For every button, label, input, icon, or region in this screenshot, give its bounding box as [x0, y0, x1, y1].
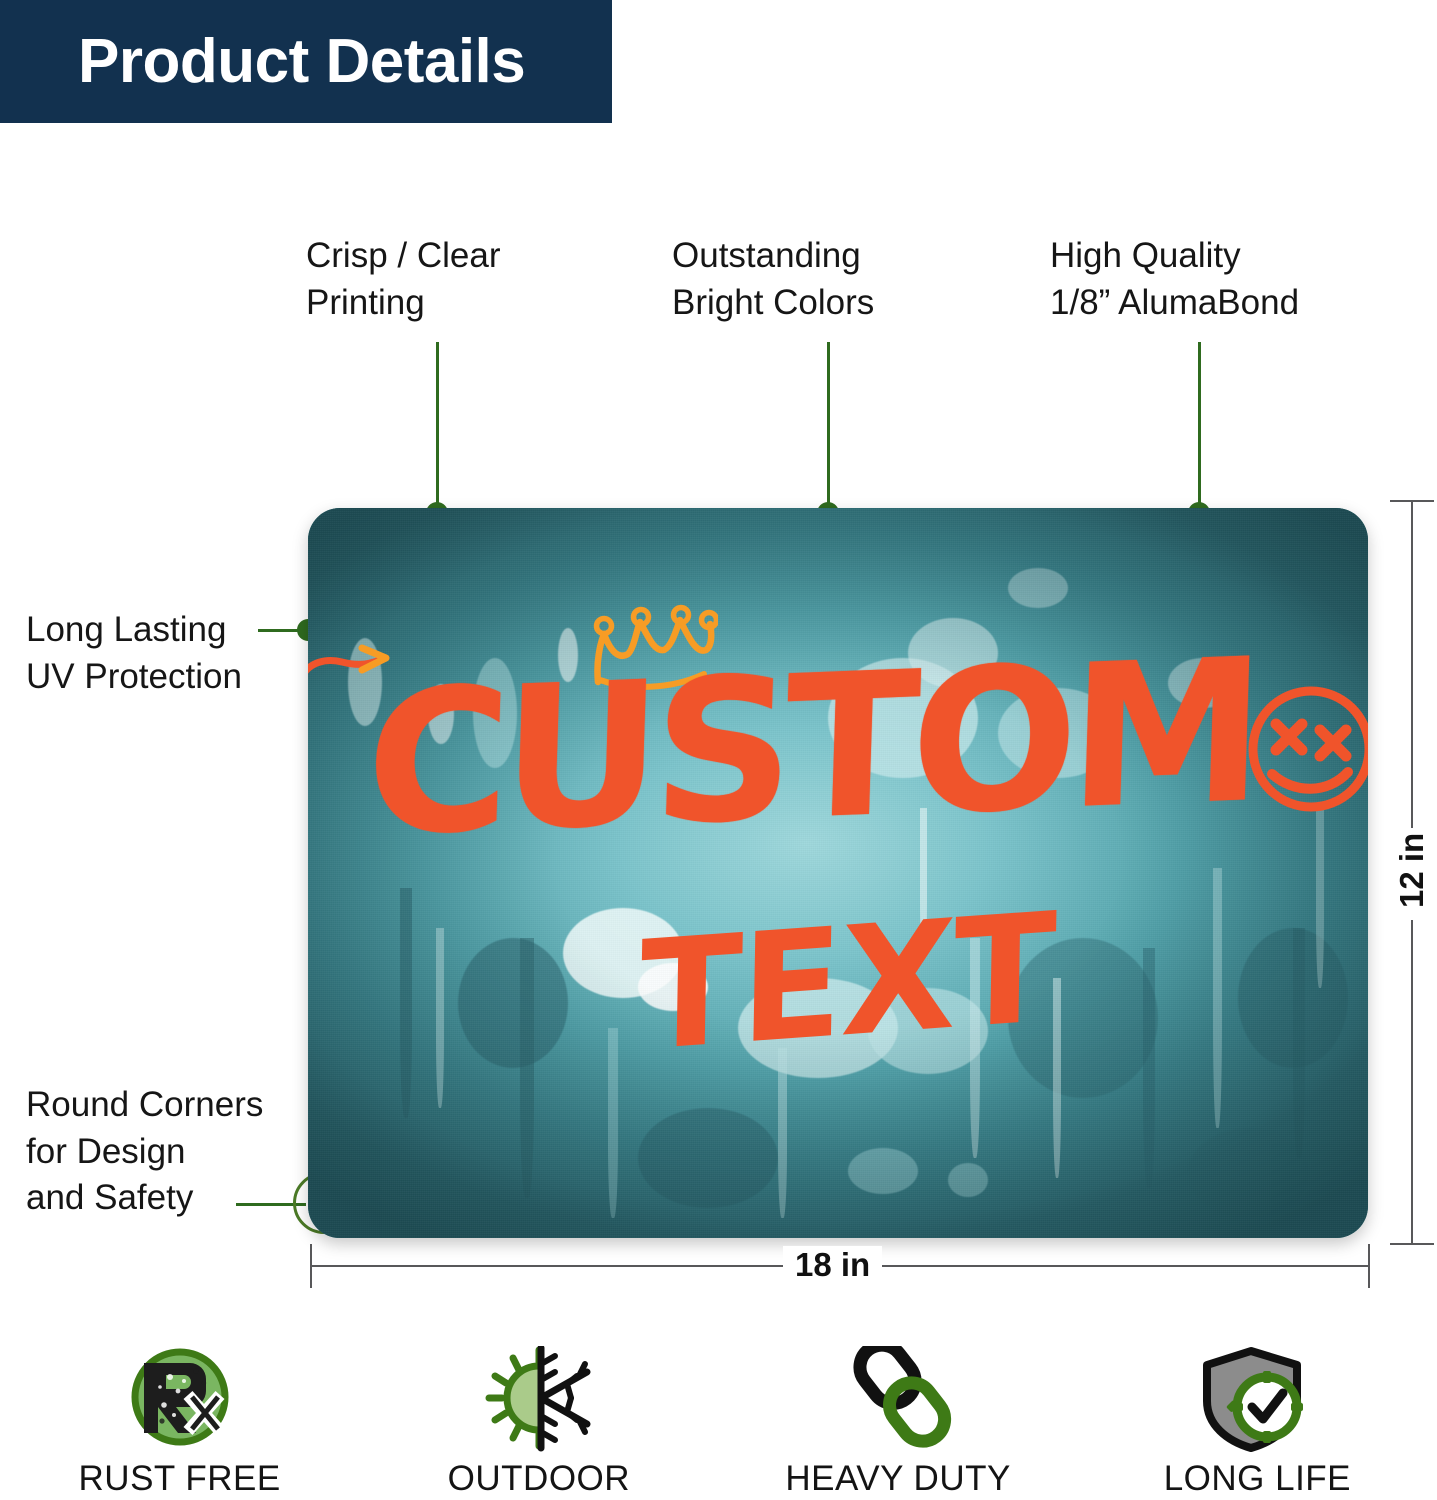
dimension-tick-right	[1368, 1244, 1370, 1288]
x-eyes-face-icon	[1236, 674, 1368, 824]
page-title: Product Details	[0, 31, 525, 93]
feature-rust-free: RUST FREE	[0, 1345, 359, 1500]
shield-clock-icon	[1201, 1345, 1313, 1453]
product-details-infographic: Product Details Crisp / Clear Printing O…	[0, 0, 1437, 1500]
feature-outdoor: OUTDOOR	[359, 1345, 718, 1500]
sun-snowflake-icon	[479, 1345, 599, 1453]
feature-label-outdoor: OUTDOOR	[448, 1459, 630, 1499]
header-banner: Product Details	[0, 0, 612, 123]
dimension-tick-left	[310, 1244, 312, 1288]
sign-preview[interactable]: CUSTOM TEXT	[308, 508, 1368, 1238]
callout-label-round-corners: Round Corners for Design and Safety	[26, 1082, 263, 1222]
feature-label-rust-free: RUST FREE	[79, 1459, 281, 1499]
sign-subline-text: TEXT	[639, 901, 1055, 1065]
dimension-label-height: 12 in	[1393, 828, 1431, 920]
sign-headline-text: CUSTOM	[364, 643, 1259, 855]
leader-line-outstanding-bright-colors	[827, 342, 830, 514]
feature-long-life: LONG LIFE	[1078, 1345, 1437, 1500]
feature-label-heavy-duty: HEAVY DUTY	[785, 1459, 1010, 1499]
callout-label-high-quality-alumabond: High Quality 1/8” AlumaBond	[1050, 233, 1299, 326]
chain-link-icon	[843, 1345, 953, 1453]
callout-label-long-lasting-uv-protection: Long Lasting UV Protection	[26, 607, 242, 700]
dimension-tick-top	[1390, 500, 1434, 502]
dimension-tick-bottom	[1390, 1243, 1434, 1245]
callout-label-crisp-clear-printing: Crisp / Clear Printing	[306, 233, 500, 326]
leader-line-high-quality-alumabond	[1198, 342, 1201, 514]
feature-badges: RUST FREE	[0, 1345, 1437, 1500]
leader-line-crisp-clear-printing	[436, 342, 439, 514]
feature-heavy-duty: HEAVY DUTY	[719, 1345, 1078, 1500]
rust-free-icon	[126, 1345, 234, 1453]
feature-label-long-life: LONG LIFE	[1164, 1459, 1351, 1499]
dimension-label-width: 18 in	[783, 1246, 882, 1284]
callout-label-outstanding-bright-colors: Outstanding Bright Colors	[672, 233, 874, 326]
